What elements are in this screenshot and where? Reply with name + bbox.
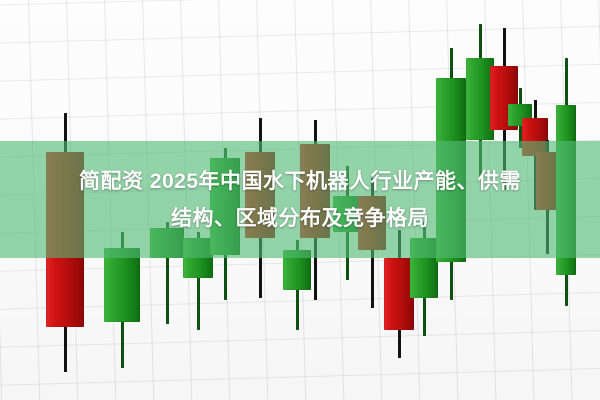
chart-canvas: 简配资 2025年中国水下机器人行业产能、供需 结构、区域分布及竞争格局 xyxy=(0,0,600,400)
title-line-2: 结构、区域分布及竞争格局 xyxy=(0,200,600,237)
page-title: 简配资 2025年中国水下机器人行业产能、供需 结构、区域分布及竞争格局 xyxy=(0,163,600,237)
candle-body xyxy=(104,248,140,322)
title-line-1: 简配资 2025年中国水下机器人行业产能、供需 xyxy=(0,163,600,200)
